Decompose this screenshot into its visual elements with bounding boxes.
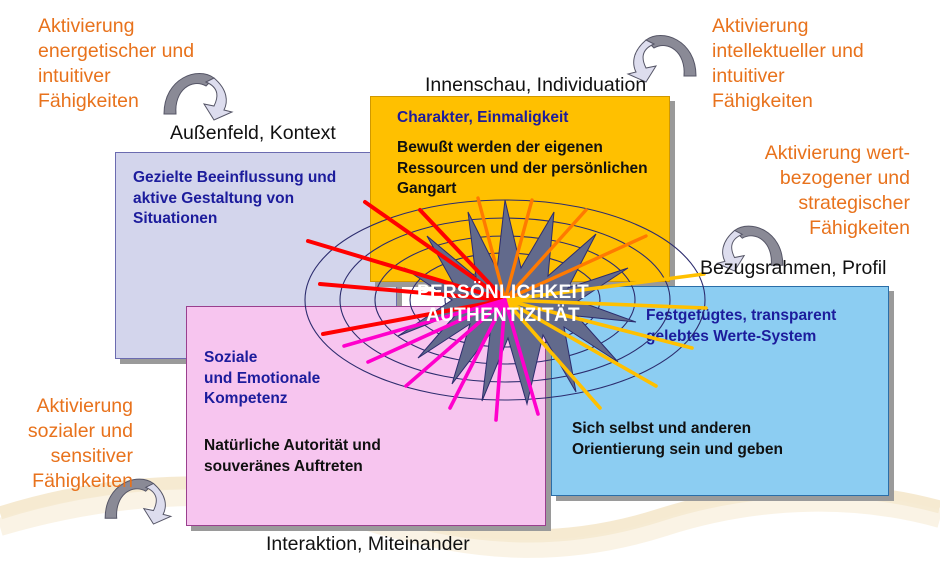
caption-wertbezogene-faehigkeiten: Aktivierung wert- bezogener und strategi… xyxy=(712,141,910,241)
diagram-canvas: Gezielte Beeinflussung und aktive Gestal… xyxy=(0,0,940,579)
box-top-body: Bewußt werden der eigenen Ressourcen und… xyxy=(397,138,667,200)
label-bezugsrahmen-profil: Bezugsrahmen, Profil xyxy=(700,256,886,280)
box-top-heading: Charakter, Einmaligkeit xyxy=(397,108,662,129)
caption-intellektuelle-faehigkeiten: Aktivierung intellektueller und intuitiv… xyxy=(712,14,864,114)
caption-soziale-faehigkeiten: Aktivierung sozialer und sensitiver Fähi… xyxy=(8,394,133,494)
caption-energetische-faehigkeiten: Aktivierung energetischer und intuitiver… xyxy=(38,14,194,114)
label-innenschau-individuation: Innenschau, Individuation xyxy=(425,73,646,97)
label-aussenfeld-kontext: Außenfeld, Kontext xyxy=(170,121,336,145)
label-interaktion-miteinander: Interaktion, Miteinander xyxy=(266,532,470,556)
center-title: PERSÖNLICHKEIT AUTHENTIZITÄT xyxy=(383,281,623,327)
